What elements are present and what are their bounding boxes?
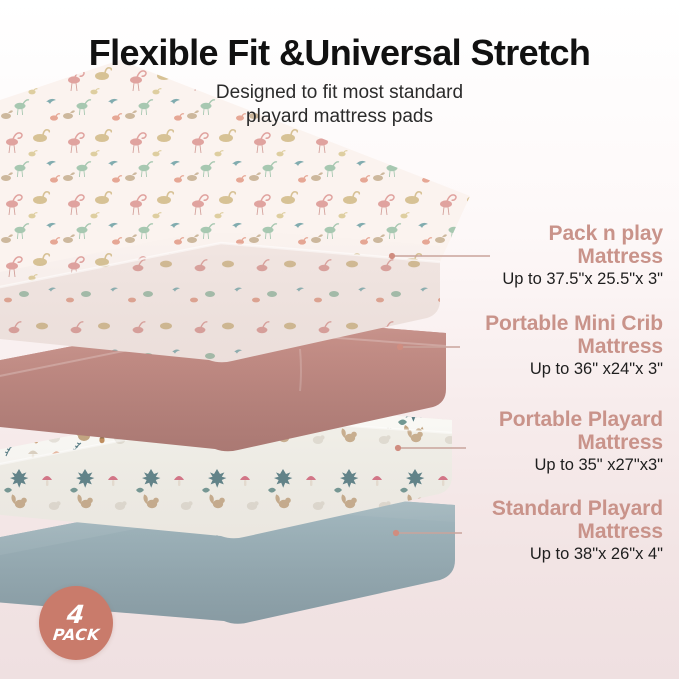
callout-dimensions: Up to 38"x 26"x 4" [333, 545, 663, 564]
callout-dimensions: Up to 35" x27"x3" [333, 456, 663, 475]
callout-portable-mini-crib: Portable Mini Crib Mattress Up to 36" x2… [333, 312, 663, 379]
callout-pack-n-play: Pack n play Mattress Up to 37.5"x 25.5"x… [333, 222, 663, 289]
badge-label: PACK [52, 628, 100, 644]
callout-dimensions: Up to 37.5"x 25.5"x 3" [333, 270, 663, 289]
callout-title-line-1: Pack n play [333, 222, 663, 245]
header-block: Flexible Fit &Universal Stretch Designed… [0, 0, 679, 129]
callout-title: Portable Playard Mattress [333, 408, 663, 454]
product-infographic: Flexible Fit &Universal Stretch Designed… [0, 0, 679, 679]
page-subtitle: Designed to fit most standard playard ma… [0, 81, 679, 130]
callout-portable-playard: Portable Playard Mattress Up to 35" x27"… [333, 408, 663, 475]
callout-title-line-1: Standard Playard [333, 497, 663, 520]
callout-title-line-1: Portable Playard [333, 408, 663, 431]
callout-title-line-2: Mattress [333, 520, 663, 543]
callout-title: Standard Playard Mattress [333, 497, 663, 543]
subtitle-line-2: playard mattress pads [0, 105, 679, 129]
callout-standard-playard: Standard Playard Mattress Up to 38"x 26"… [333, 497, 663, 564]
callout-title: Pack n play Mattress [333, 222, 663, 268]
callout-title: Portable Mini Crib Mattress [333, 312, 663, 358]
page-title: Flexible Fit &Universal Stretch [0, 0, 679, 72]
callout-dimensions: Up to 36" x24"x 3" [333, 360, 663, 379]
four-pack-badge: 4 PACK [39, 586, 113, 660]
subtitle-line-1: Designed to fit most standard [0, 81, 679, 105]
badge-count: 4 [66, 603, 86, 626]
callout-title-line-1: Portable Mini Crib [333, 312, 663, 335]
callout-title-line-2: Mattress [333, 431, 663, 454]
callout-title-line-2: Mattress [333, 335, 663, 358]
callout-title-line-2: Mattress [333, 245, 663, 268]
